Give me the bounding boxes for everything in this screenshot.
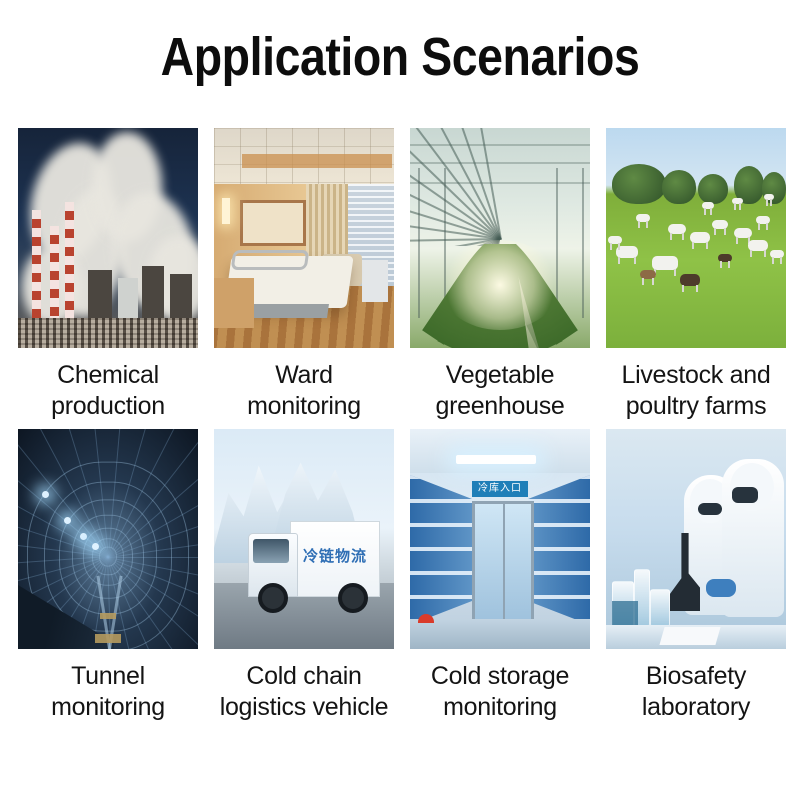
scenario-image-vegetable-greenhouse (410, 128, 590, 348)
scenario-image-cold-storage-monitoring: 冷库入口 (410, 429, 590, 649)
scenario-caption-vegetable-greenhouse: Vegetable greenhouse (410, 360, 590, 421)
scenario-image-ward-monitoring (214, 128, 394, 348)
scenario-caption-ward-monitoring: Ward monitoring (214, 360, 394, 421)
scenario-card-cold-chain-logistics-vehicle[interactable]: 冷链物流 Cold chain logistics vehicle (214, 429, 394, 722)
page-title: Application Scenarios (56, 26, 744, 88)
scenario-caption-cold-chain-logistics-vehicle: Cold chain logistics vehicle (214, 661, 394, 722)
scenario-image-chemical-production (18, 128, 198, 348)
scenario-caption-biosafety-laboratory: Biosafety laboratory (606, 661, 786, 722)
caption-line-1: Vegetable (446, 361, 555, 389)
scenario-card-tunnel-monitoring[interactable]: Tunnel monitoring (18, 429, 198, 722)
scenario-card-biosafety-laboratory[interactable]: Biosafety laboratory (606, 429, 786, 722)
scenario-caption-cold-storage-monitoring: Cold storage monitoring (410, 661, 590, 722)
caption-line-2: poultry farms (606, 391, 786, 422)
caption-line-2: logistics vehicle (214, 692, 394, 723)
caption-line-2: production (18, 391, 198, 422)
scenario-card-ward-monitoring[interactable]: Ward monitoring (214, 128, 394, 421)
cold-storage-entrance-sign: 冷库入口 (472, 481, 528, 497)
scenario-caption-chemical-production: Chemical production (18, 360, 198, 421)
scenario-image-cold-chain-logistics-vehicle: 冷链物流 (214, 429, 394, 649)
scenario-card-vegetable-greenhouse[interactable]: Vegetable greenhouse (410, 128, 590, 421)
scenario-image-tunnel-monitoring (18, 429, 198, 649)
scenario-card-livestock-and-poultry-farms[interactable]: Livestock and poultry farms (606, 128, 786, 421)
scenario-image-biosafety-laboratory (606, 429, 786, 649)
scenario-image-livestock-and-poultry-farms (606, 128, 786, 348)
scenario-card-chemical-production[interactable]: Chemical production (18, 128, 198, 421)
caption-line-2: monitoring (214, 391, 394, 422)
scenario-grid: Chemical production Ward monitoring (18, 128, 784, 722)
caption-line-1: Cold storage (431, 662, 569, 690)
caption-line-2: monitoring (18, 692, 198, 723)
caption-line-2: laboratory (606, 692, 786, 723)
caption-line-1: Chemical (57, 361, 159, 389)
caption-line-1: Livestock and (622, 361, 771, 389)
caption-line-1: Ward (275, 361, 333, 389)
application-scenarios-page: Application Scenarios Chemical productio… (0, 0, 800, 800)
truck-body-text: 冷链物流 (298, 545, 372, 566)
scenario-caption-livestock-and-poultry-farms: Livestock and poultry farms (606, 360, 786, 421)
caption-line-2: greenhouse (410, 391, 590, 422)
scenario-card-cold-storage-monitoring[interactable]: 冷库入口 Cold storage monitoring (410, 429, 590, 722)
caption-line-1: Tunnel (71, 662, 145, 690)
caption-line-2: monitoring (410, 692, 590, 723)
caption-line-1: Cold chain (246, 662, 361, 690)
scenario-caption-tunnel-monitoring: Tunnel monitoring (18, 661, 198, 722)
caption-line-1: Biosafety (646, 662, 746, 690)
